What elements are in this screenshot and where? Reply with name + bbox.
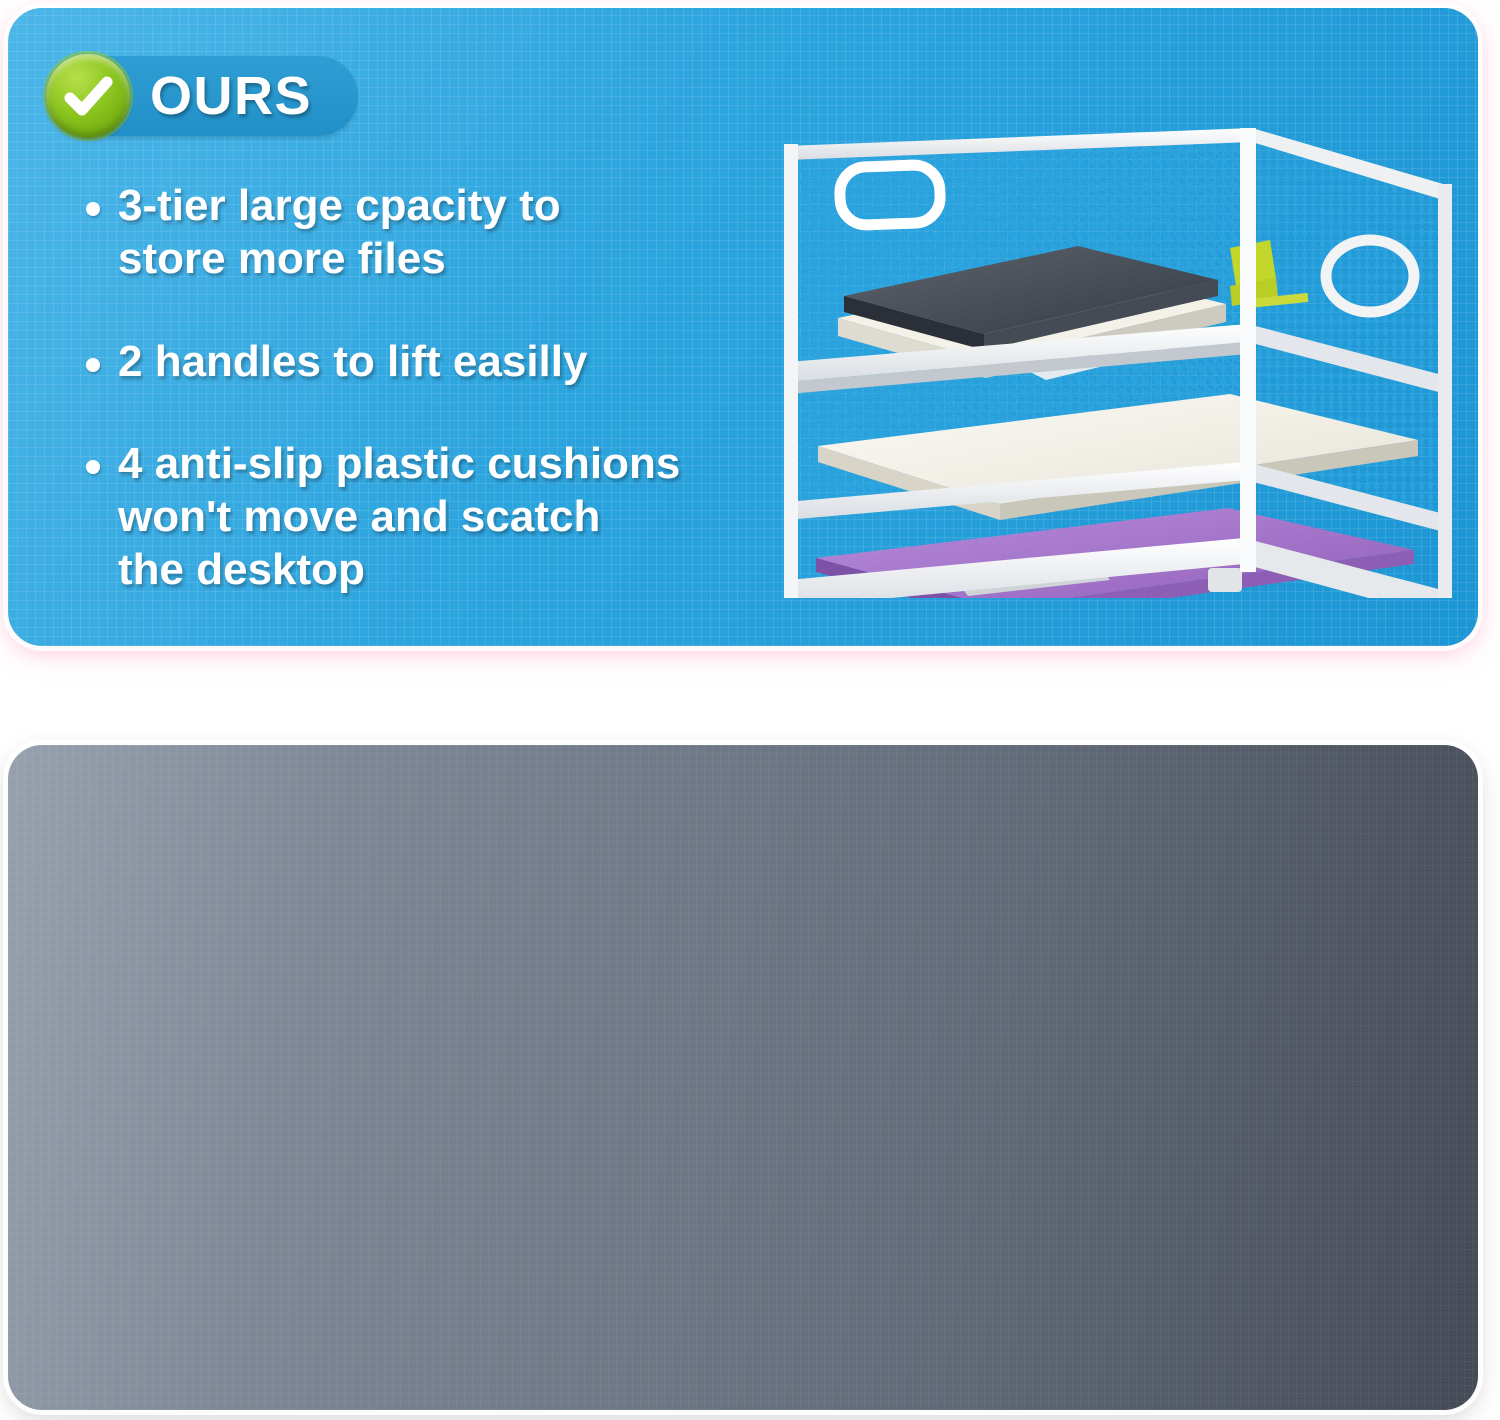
list-item: 2 handles to lift easilly	[86, 336, 776, 389]
panel-ours: OURS 3-tier large cpacity to store more …	[8, 8, 1478, 646]
list-item: 4 anti-slip plastic cushions won't move …	[86, 438, 776, 596]
bullet-list-ours: 3-tier large cpacity to store more files…	[86, 180, 776, 597]
comparison-infographic: OURS 3-tier large cpacity to store more …	[0, 0, 1500, 1420]
bullet-text: 4 anti-slip plastic cushions won't move …	[118, 438, 680, 596]
badge-ours-label: OURS	[150, 69, 312, 123]
panel-others: OTHERS Only 2 tiers No handles,hard to u…	[8, 745, 1478, 1410]
bullet-text: 3-tier large cpacity to store more files	[118, 180, 561, 286]
bullet-dot-icon	[86, 358, 100, 372]
bullet-dot-icon	[86, 202, 100, 216]
list-item: 3-tier large cpacity to store more files	[86, 180, 776, 286]
bullet-dot-icon	[86, 460, 100, 474]
check-circle-icon	[46, 54, 130, 138]
badge-ours: OURS	[58, 56, 358, 136]
bullet-text: 2 handles to lift easilly	[118, 336, 587, 389]
product-image-ours	[778, 128, 1458, 598]
